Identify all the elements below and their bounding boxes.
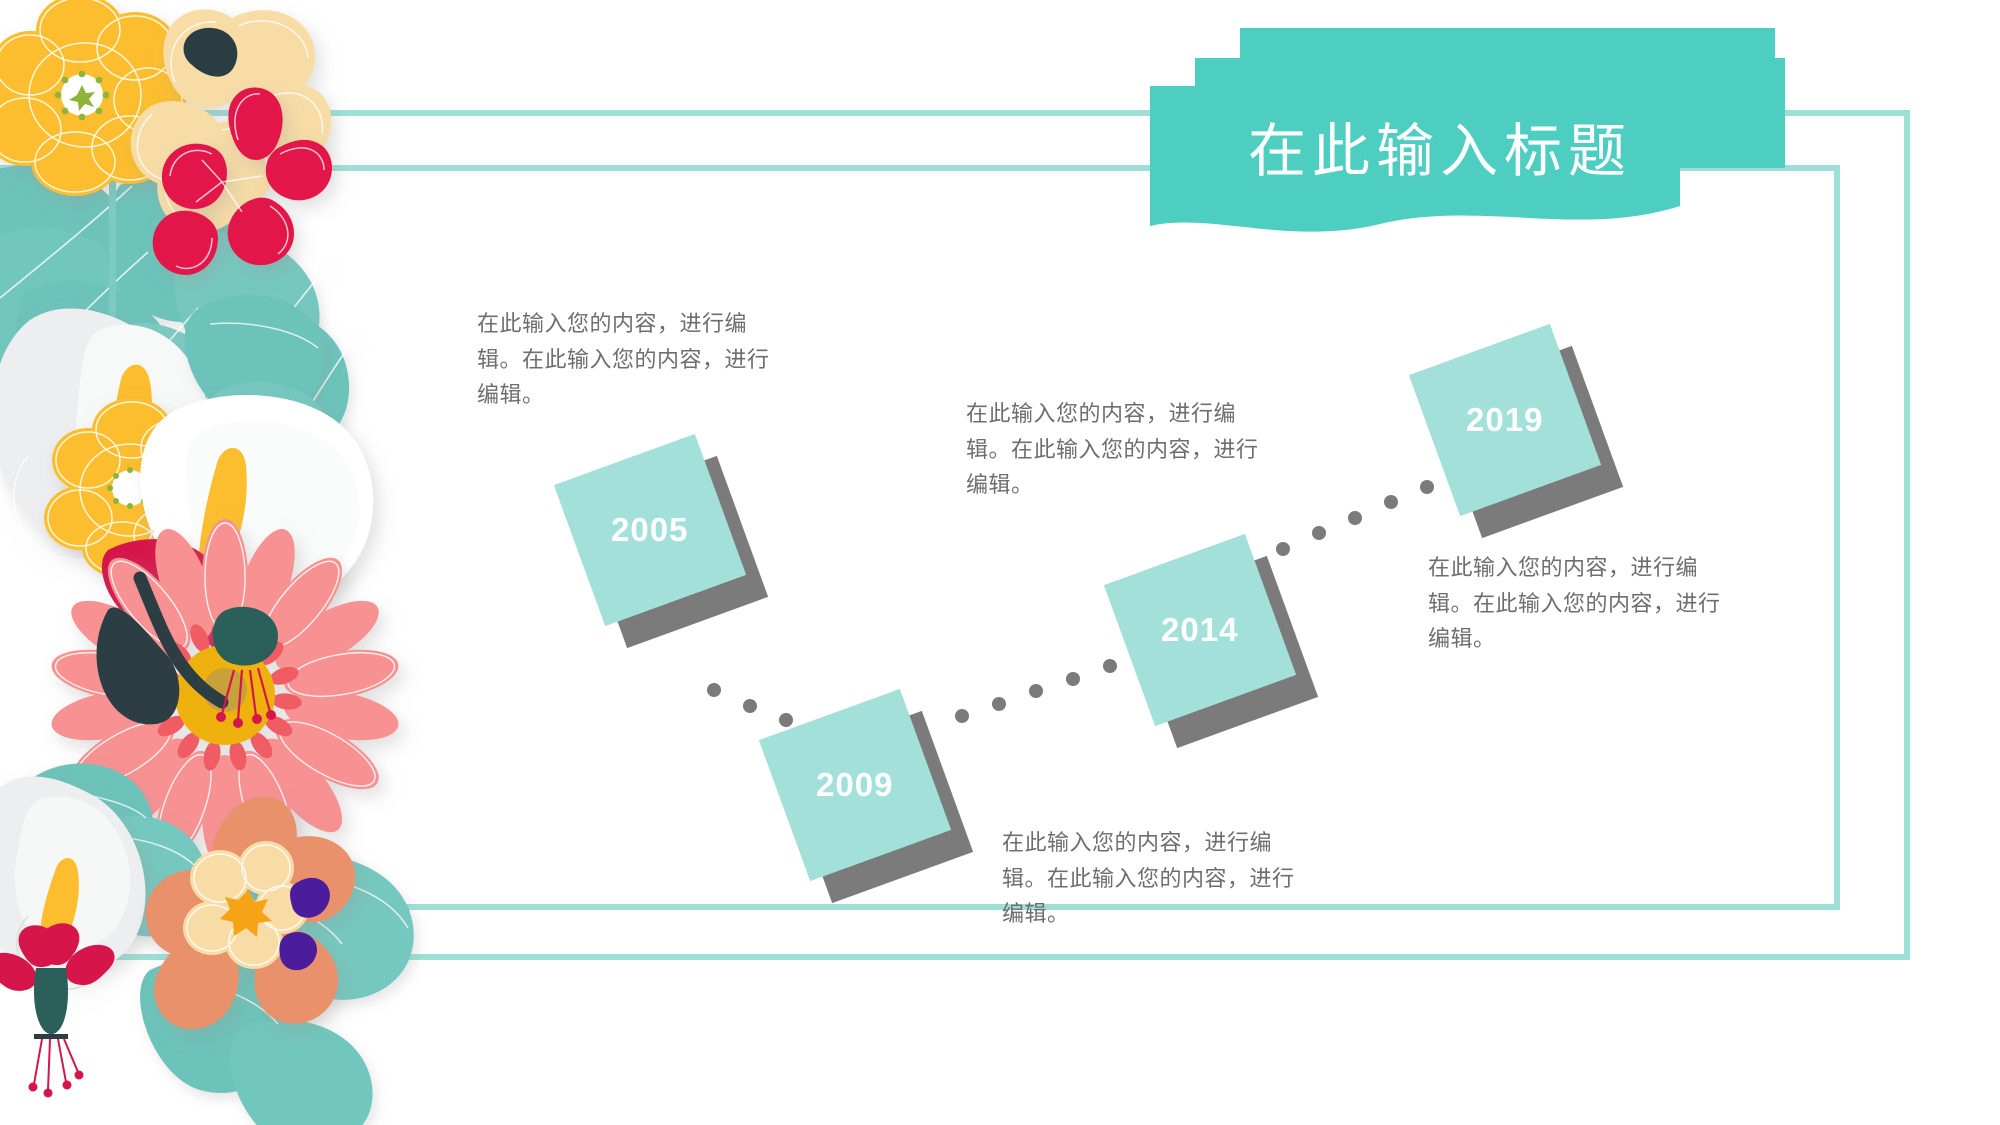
milestone-year-2019: 2019 (1466, 401, 1543, 439)
title-banner: 在此输入标题 (1140, 28, 1780, 218)
milestone-year-2014: 2014 (1161, 611, 1238, 649)
floral-illustration (0, 0, 440, 1125)
milestone-node-2005[interactable]: 2005 (575, 455, 725, 605)
milestone-description-2005: 在此输入您的内容，进行编辑。在此输入您的内容，进行编辑。 (477, 306, 787, 413)
milestone-description-2019: 在此输入您的内容，进行编辑。在此输入您的内容，进行编辑。 (1428, 550, 1738, 657)
milestone-node-2019[interactable]: 2019 (1430, 345, 1580, 495)
milestone-node-2014[interactable]: 2014 (1125, 555, 1275, 705)
page-title: 在此输入标题 (1180, 86, 1700, 206)
milestone-year-2005: 2005 (611, 511, 688, 549)
milestone-description-2014: 在此输入您的内容，进行编辑。在此输入您的内容，进行编辑。 (966, 396, 1276, 503)
milestone-description-2009: 在此输入您的内容，进行编辑。在此输入您的内容，进行编辑。 (1002, 825, 1312, 932)
slide-canvas: 在此输入标题 在此输入您的内容，进行编辑。在此输入您的内容，进行编辑。 2005… (0, 0, 2000, 1125)
milestone-node-2009[interactable]: 2009 (780, 710, 930, 860)
milestone-year-2009: 2009 (816, 766, 893, 804)
